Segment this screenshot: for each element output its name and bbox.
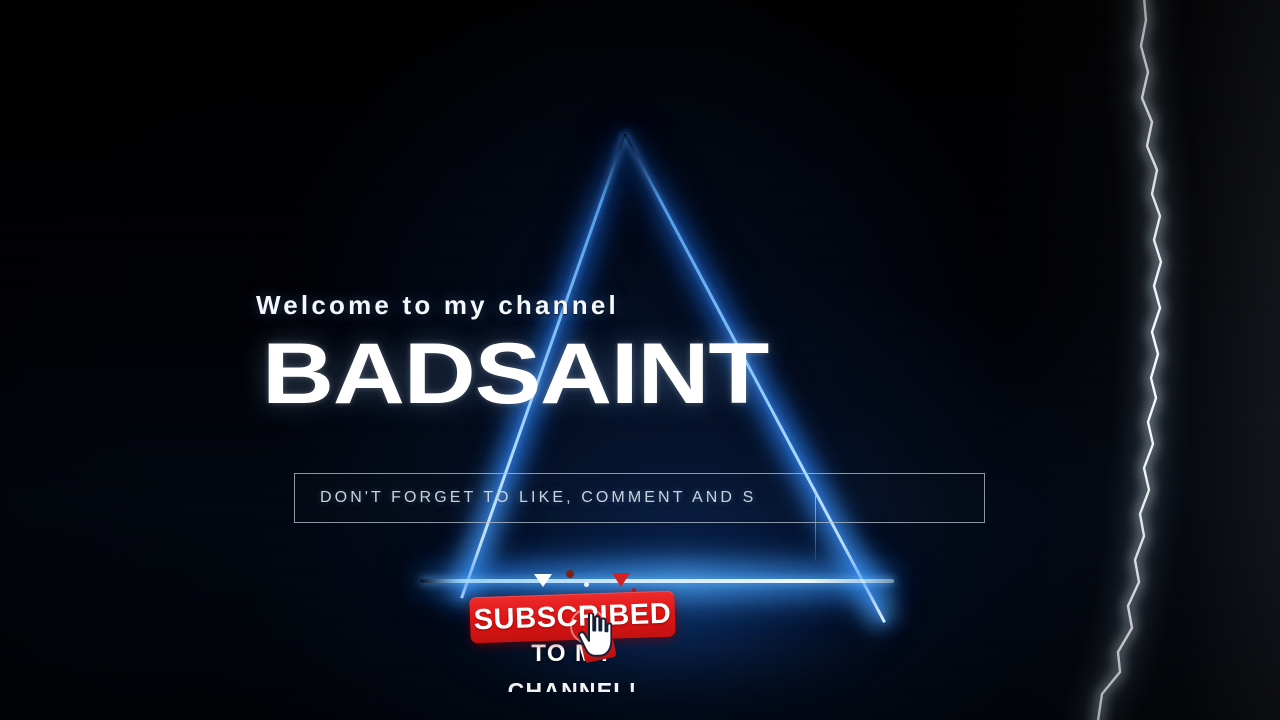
subscribe-line-channel-text: CHANNEL! (470, 680, 675, 692)
video-frame-canvas: Welcome to my channel BADSAINT DON'T FOR… (0, 0, 1280, 720)
text-caret (815, 489, 816, 561)
confetti-dot-darkred (566, 570, 574, 578)
pointing-hand-cursor-icon (578, 613, 612, 657)
subtitle-typed-text: DON'T FORGET TO LIKE, COMMENT AND S (320, 473, 756, 523)
confetti-triangle-red (612, 573, 630, 587)
subscribe-line-to-my: TO MY (470, 640, 675, 668)
confetti-dot-white (584, 582, 589, 587)
channel-brand-title: BADSAINT (262, 331, 768, 417)
welcome-heading: Welcome to my channel (256, 290, 619, 321)
confetti-triangle-white (534, 574, 552, 587)
subscribe-line-channel: CHANNEL! (470, 680, 675, 692)
